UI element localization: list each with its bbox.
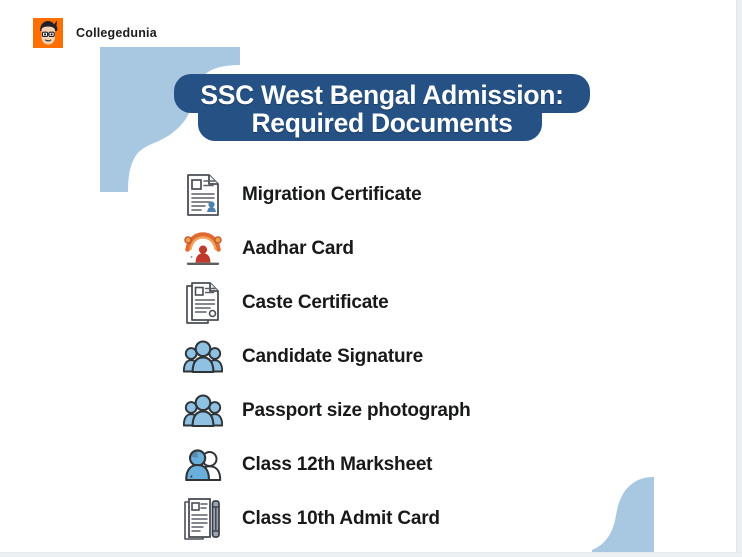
document-stack-icon	[180, 279, 226, 327]
list-item: Passport size photograph	[180, 384, 650, 438]
list-item-label: Class 10th Admit Card	[242, 508, 440, 530]
required-documents-list: Migration Certificate Aadhar Card	[180, 168, 650, 546]
page-edge-bottom	[0, 552, 742, 557]
collegedunia-avatar-icon	[33, 18, 63, 48]
list-item: Caste Certificate	[180, 276, 650, 330]
document-with-pen-icon	[180, 495, 226, 543]
list-item: Class 12th Marksheet	[180, 438, 650, 492]
list-item-label: Candidate Signature	[242, 346, 423, 368]
people-group-icon	[180, 333, 226, 381]
list-item-label: Migration Certificate	[242, 184, 422, 206]
brand-bar: Collegedunia	[33, 18, 157, 48]
page-edge-right	[736, 0, 742, 557]
slide-title-banner: SSC West Bengal Admission: Required Docu…	[174, 74, 590, 144]
list-item-label: Aadhar Card	[242, 238, 354, 260]
list-item: Class 10th Admit Card	[180, 492, 650, 546]
aadhaar-logo-icon	[180, 225, 226, 273]
brand-name: Collegedunia	[76, 26, 157, 40]
list-item: Candidate Signature	[180, 330, 650, 384]
list-item: Aadhar Card	[180, 222, 650, 276]
list-item-label: Class 12th Marksheet	[242, 454, 432, 476]
list-item: Migration Certificate	[180, 168, 650, 222]
document-with-seal-icon	[180, 171, 226, 219]
two-people-icon	[180, 441, 226, 489]
people-group-icon	[180, 387, 226, 435]
list-item-label: Passport size photograph	[242, 400, 471, 422]
list-item-label: Caste Certificate	[242, 292, 389, 314]
slide-canvas: Collegedunia SSC West Bengal Admission: …	[0, 0, 742, 557]
